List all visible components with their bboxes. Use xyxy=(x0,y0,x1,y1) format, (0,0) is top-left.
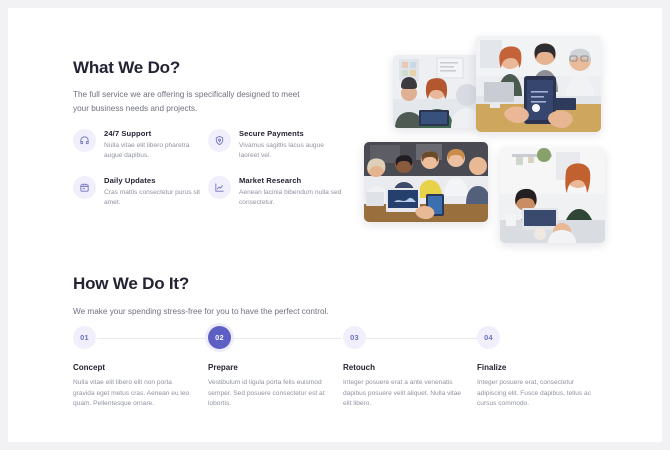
feature-desc: Vivamus sagittis lacus augue laoreet vel… xyxy=(239,141,344,161)
step-connector xyxy=(97,338,207,339)
feature-text: Market Research Aenean lacinia bibendum … xyxy=(239,175,344,208)
step-desc: Vestibulum id ligula porta felis euismod… xyxy=(208,378,330,410)
process-steps: 01 02 03 04 Concept Nulla vitae elit lib… xyxy=(73,326,603,423)
step-marker-04[interactable]: 04 xyxy=(477,326,500,349)
step-marker-02[interactable]: 02 xyxy=(208,326,231,349)
feature-title: Daily Updates xyxy=(104,176,209,185)
calendar-updates-icon xyxy=(73,176,96,199)
how-we-do-it-intro: How We Do It? We make your spending stre… xyxy=(73,274,329,318)
step-title: Finalize xyxy=(477,363,599,373)
what-we-do-lede: The full service we are offering is spec… xyxy=(73,88,305,116)
feature-desc: Cras mattis consectetur purus sit amet. xyxy=(104,188,209,208)
what-we-do-intro: What We Do? The full service we are offe… xyxy=(73,58,323,116)
feature-text: 24/7 Support Nulla vitae elit libero pha… xyxy=(104,128,209,161)
feature-title: 24/7 Support xyxy=(104,129,209,138)
what-we-do-section: What We Do? The full service we are offe… xyxy=(8,8,662,238)
feature-grid: 24/7 Support Nulla vitae elit libero pha… xyxy=(73,128,343,208)
how-we-do-it-section: How We Do It? We make your spending stre… xyxy=(8,256,662,442)
feature-title: Market Research xyxy=(239,176,344,185)
photo-workshop-group xyxy=(364,142,488,222)
feature-text: Secure Payments Vivamus sagittis lacus a… xyxy=(239,128,344,161)
photo-collage xyxy=(360,30,645,230)
feature-desc: Nulla vitae elit libero pharetra augue d… xyxy=(104,141,209,161)
feature-desc: Aenean lacinia bibendum nulla sed consec… xyxy=(239,188,344,208)
feature-item-daily-updates[interactable]: Daily Updates Cras mattis consectetur pu… xyxy=(73,175,208,208)
step-title: Retouch xyxy=(343,363,465,373)
photo-meeting-laptop xyxy=(393,55,480,128)
feature-text: Daily Updates Cras mattis consectetur pu… xyxy=(104,175,209,208)
step-marker-03[interactable]: 03 xyxy=(343,326,366,349)
shield-lock-icon xyxy=(208,129,231,152)
section-title: How We Do It? xyxy=(73,274,329,294)
feature-item-market-research[interactable]: Market Research Aenean lacinia bibendum … xyxy=(208,175,343,208)
landing-page: What We Do? The full service we are offe… xyxy=(8,8,662,442)
feature-row: Daily Updates Cras mattis consectetur pu… xyxy=(73,175,343,208)
step-desc: Integer posuere erat a ante venenatis da… xyxy=(343,378,465,410)
feature-item-secure-payments[interactable]: Secure Payments Vivamus sagittis lacus a… xyxy=(208,128,343,161)
step-item-concept: Concept Nulla vitae elit libero elit non… xyxy=(73,363,195,410)
feature-row: 24/7 Support Nulla vitae elit libero pha… xyxy=(73,128,343,161)
step-item-retouch: Retouch Integer posuere erat a ante vene… xyxy=(343,363,465,410)
headset-support-icon xyxy=(73,129,96,152)
feature-title: Secure Payments xyxy=(239,129,344,138)
step-desc: Nulla vitae elit libero elit non porta g… xyxy=(73,378,195,410)
step-item-finalize: Finalize Integer posuere erat, consectet… xyxy=(477,363,599,410)
step-item-prepare: Prepare Vestibulum id ligula porta felis… xyxy=(208,363,330,410)
photo-team-tablet xyxy=(476,36,601,132)
step-track: 01 02 03 04 xyxy=(73,326,603,350)
step-connector xyxy=(365,338,477,339)
section-subtitle: We make your spending stress-free for yo… xyxy=(73,305,329,318)
page-title: What We Do? xyxy=(73,58,323,78)
step-title: Concept xyxy=(73,363,195,373)
photo-office-discussion xyxy=(500,148,605,243)
chart-research-icon xyxy=(208,176,231,199)
step-desc: Integer posuere erat, consectetur adipis… xyxy=(477,378,599,410)
step-marker-01[interactable]: 01 xyxy=(73,326,96,349)
step-title: Prepare xyxy=(208,363,330,373)
step-descriptions: Concept Nulla vitae elit libero elit non… xyxy=(73,363,603,423)
feature-item-support[interactable]: 24/7 Support Nulla vitae elit libero pha… xyxy=(73,128,208,161)
step-connector xyxy=(231,338,341,339)
